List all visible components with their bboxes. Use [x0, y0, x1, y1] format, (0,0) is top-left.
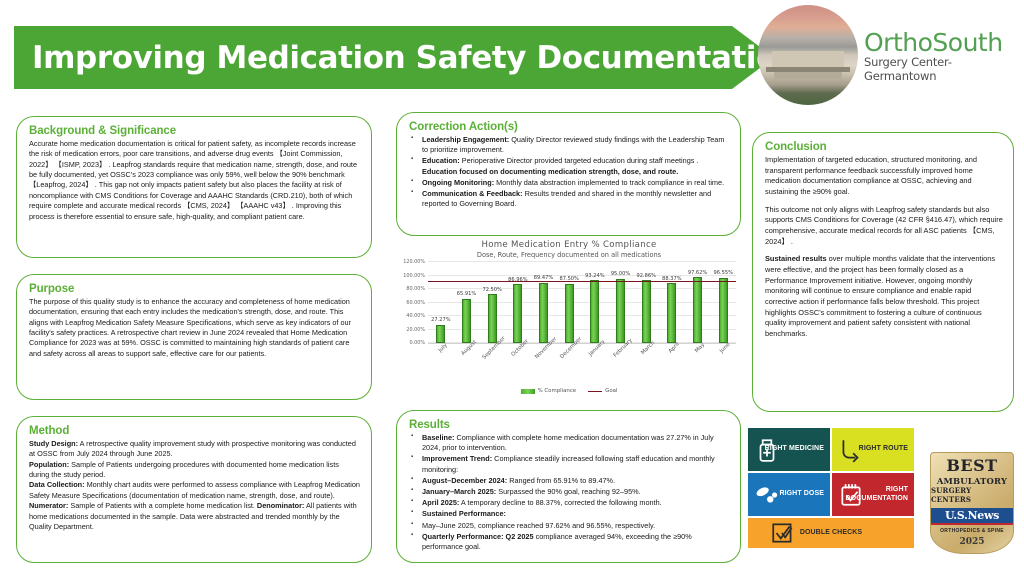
bar[interactable] [667, 283, 676, 343]
bar[interactable] [642, 280, 651, 343]
y-axis-tick: 100.00% [403, 273, 425, 279]
tile-label: RIGHT ROUTE [859, 445, 908, 453]
method-body-text: Study Design: A retrospective quality im… [29, 439, 361, 532]
x-axis-label: December [556, 344, 582, 388]
chart-legend: % Compliance Goal [398, 388, 740, 394]
bar-slot: 88.37% [659, 262, 685, 343]
organization-logo: OrthoSouth Surgery Center-Germantown [758, 4, 1020, 106]
x-axis-label: August [454, 344, 480, 388]
badge-line-surgery-centers: SURGERY CENTERS [931, 486, 1013, 504]
legend-label-compliance: % Compliance [538, 388, 577, 394]
list-item: Sustained Performance: [409, 509, 730, 519]
page-title: Improving Medication Safety Documentatio… [14, 40, 799, 76]
list-item: Baseline: Compliance with complete home … [409, 433, 730, 453]
bar-value-label: 89.47% [534, 275, 553, 281]
y-axis-tick: 120.00% [403, 259, 425, 265]
surgery-center-photo-icon [758, 5, 858, 105]
bar-slot: 72.50% [479, 262, 505, 343]
logo-text-block: OrthoSouth Surgery Center-Germantown [864, 28, 1020, 83]
method-item: Data Collection: Monthly chart audits we… [29, 480, 361, 532]
list-item: April 2025: A temporary decline to 88.37… [409, 498, 730, 508]
section-conclusion: Conclusion Implementation of targeted ed… [752, 132, 1014, 412]
bar-slot: 92.86% [633, 262, 659, 343]
list-item: Communication & Feedback: Results trende… [409, 189, 730, 209]
bar-value-label: 95.00% [611, 271, 630, 277]
x-axis-label: January [582, 344, 608, 388]
conclusion-paragraph: Implementation of targeted education, st… [765, 155, 1003, 198]
bar[interactable] [693, 277, 702, 343]
bar-slot: 27.27% [428, 262, 454, 343]
legend-item-compliance: % Compliance [521, 388, 577, 394]
clipboard-check-icon [838, 482, 864, 508]
logo-org-subtitle: Surgery Center-Germantown [864, 55, 1020, 83]
bar-value-label: 96.55% [714, 270, 733, 276]
bar-slot: 89.47% [531, 262, 557, 343]
list-item: January–March 2025: Surpassed the 90% go… [409, 487, 730, 497]
badge-ribbon-usnews: U.S.News [930, 508, 1014, 523]
section-heading-correction: Correction Action(s) [409, 121, 730, 133]
bar-slot: 93.24% [582, 262, 608, 343]
method-item: Population: Sample of Patients undergoin… [29, 460, 361, 481]
tile-clipboard-check: RIGHT DOCUMENTATION [832, 473, 914, 516]
list-item: Leadership Engagement: Quality Director … [409, 135, 730, 155]
bar-value-label: 72.50% [482, 287, 501, 293]
medication-rights-graphic: RIGHT MEDICINERIGHT ROUTERIGHT DOSERIGHT… [748, 428, 914, 560]
bar-slot: 65.91% [454, 262, 480, 343]
conclusion-paragraph: This outcome not only aligns with Leapfr… [765, 205, 1003, 248]
section-heading-purpose: Purpose [29, 283, 361, 295]
chart-title: Home Medication Entry % Compliance [398, 240, 740, 250]
badge-line-ambulatory: AMBULATORY [937, 476, 1007, 486]
x-axis-label: March [633, 344, 659, 388]
bar[interactable] [719, 278, 728, 343]
x-axis-label: July [428, 344, 454, 388]
section-heading-method: Method [29, 425, 361, 437]
title-banner: Improving Medication Safety Documentatio… [14, 26, 774, 89]
tile-pills: RIGHT DOSE [748, 473, 830, 516]
y-axis-tick: 0.00% [409, 340, 425, 346]
bar[interactable] [565, 284, 574, 343]
list-item: Quarterly Performance: Q2 2025 complianc… [409, 532, 730, 552]
y-axis-tick: 40.00% [406, 313, 425, 319]
y-axis-tick: 80.00% [406, 286, 425, 292]
pills-icon [754, 482, 780, 508]
section-heading-results: Results [409, 419, 730, 431]
y-axis-tick: 60.00% [406, 300, 425, 306]
tile-route-arrow: RIGHT ROUTE [832, 428, 914, 471]
conclusion-body-text: Implementation of targeted education, st… [765, 155, 1003, 340]
list-item: August–December 2024: Ranged from 65.91%… [409, 476, 730, 486]
list-item: Ongoing Monitoring: Monthly data abstrac… [409, 178, 730, 188]
conclusion-paragraph: Sustained results over multiple months v… [765, 254, 1003, 339]
badge-year: 2025 [959, 537, 984, 547]
x-axis-label: November [531, 344, 557, 388]
chart-bars: 27.27%65.91%72.50%86.96%89.47%87.50%93.2… [428, 262, 736, 343]
chart-plot-area: 0.00%20.00%40.00%60.00%80.00%100.00%120.… [428, 262, 736, 344]
correction-bullet-list: Leadership Engagement: Quality Director … [409, 135, 730, 209]
medicine-bottle-icon [754, 437, 780, 463]
compliance-chart: Home Medication Entry % Compliance Dose,… [398, 240, 740, 408]
bar[interactable] [436, 325, 445, 343]
bar[interactable] [590, 280, 599, 343]
bar-slot: 86.96% [505, 262, 531, 343]
results-bullet-list: Baseline: Compliance with complete home … [409, 433, 730, 552]
bar[interactable] [462, 299, 471, 343]
section-method: Method Study Design: A retrospective qua… [16, 416, 372, 563]
logo-org-name: OrthoSouth [864, 28, 1020, 57]
bar-value-label: 65.91% [457, 291, 476, 297]
tile-label: DOUBLE CHECKS [800, 529, 862, 537]
list-item: Education: Perioperative Director provid… [409, 156, 730, 176]
bar-slot: 95.00% [608, 262, 634, 343]
bar-value-label: 27.27% [431, 317, 450, 323]
badge-line-best: BEST [946, 458, 997, 474]
background-body-text: Accurate home medication documentation i… [29, 139, 361, 222]
list-item: Improvement Trend: Compliance steadily i… [409, 454, 730, 474]
bar-slot: 96.55% [710, 262, 736, 343]
bar-value-label: 97.62% [688, 270, 707, 276]
us-news-best-badge: BEST AMBULATORY SURGERY CENTERS U.S.News… [930, 452, 1014, 554]
chart-goal-line [428, 281, 736, 282]
purpose-body-text: The purpose of this quality study is to … [29, 297, 361, 359]
route-arrow-icon [838, 437, 864, 463]
x-axis-label: June [710, 344, 736, 388]
legend-item-goal: Goal [588, 388, 617, 394]
legend-line-swatch-icon [588, 391, 602, 392]
legend-bar-swatch-icon [521, 389, 535, 394]
bar-slot: 87.50% [556, 262, 582, 343]
tile-label: RIGHT DOSE [779, 490, 824, 498]
bar[interactable] [616, 279, 625, 343]
y-axis-tick: 20.00% [406, 327, 425, 333]
section-heading-background: Background & Significance [29, 125, 361, 137]
bar[interactable] [513, 284, 522, 343]
bar[interactable] [539, 283, 548, 343]
section-correction-actions: Correction Action(s) Leadership Engageme… [396, 112, 741, 236]
section-heading-conclusion: Conclusion [765, 141, 1003, 153]
tile-medicine-bottle: RIGHT MEDICINE [748, 428, 830, 471]
method-item: Study Design: A retrospective quality im… [29, 439, 361, 460]
badge-specialty: ORTHOPEDICS & SPINE [940, 528, 1004, 534]
chart-x-axis-labels: JulyAugustSeptemberOctoberNovemberDecemb… [428, 344, 736, 388]
x-axis-label: May [685, 344, 711, 388]
section-purpose: Purpose The purpose of this quality stud… [16, 274, 372, 400]
x-axis-label: April [659, 344, 685, 388]
bar[interactable] [488, 294, 497, 343]
x-axis-label: February [608, 344, 634, 388]
section-background-significance: Background & Significance Accurate home … [16, 116, 372, 258]
bar-value-label: 92.86% [636, 273, 655, 279]
double-check-icon [770, 520, 796, 546]
poster-canvas: Improving Medication Safety Documentatio… [0, 0, 1024, 575]
list-item: May–June 2025, compliance reached 97.62%… [409, 521, 730, 531]
chart-subtitle: Dose, Route, Frequency documented on all… [398, 251, 740, 259]
x-axis-label: October [505, 344, 531, 388]
bar-slot: 97.62% [685, 262, 711, 343]
x-axis-label: September [479, 344, 505, 388]
section-results: Results Baseline: Compliance with comple… [396, 410, 741, 563]
tile-double-check: DOUBLE CHECKS [748, 518, 914, 548]
poster-header: Improving Medication Safety Documentatio… [0, 0, 1024, 108]
legend-label-goal: Goal [605, 388, 617, 394]
bar-value-label: 93.24% [585, 273, 604, 279]
